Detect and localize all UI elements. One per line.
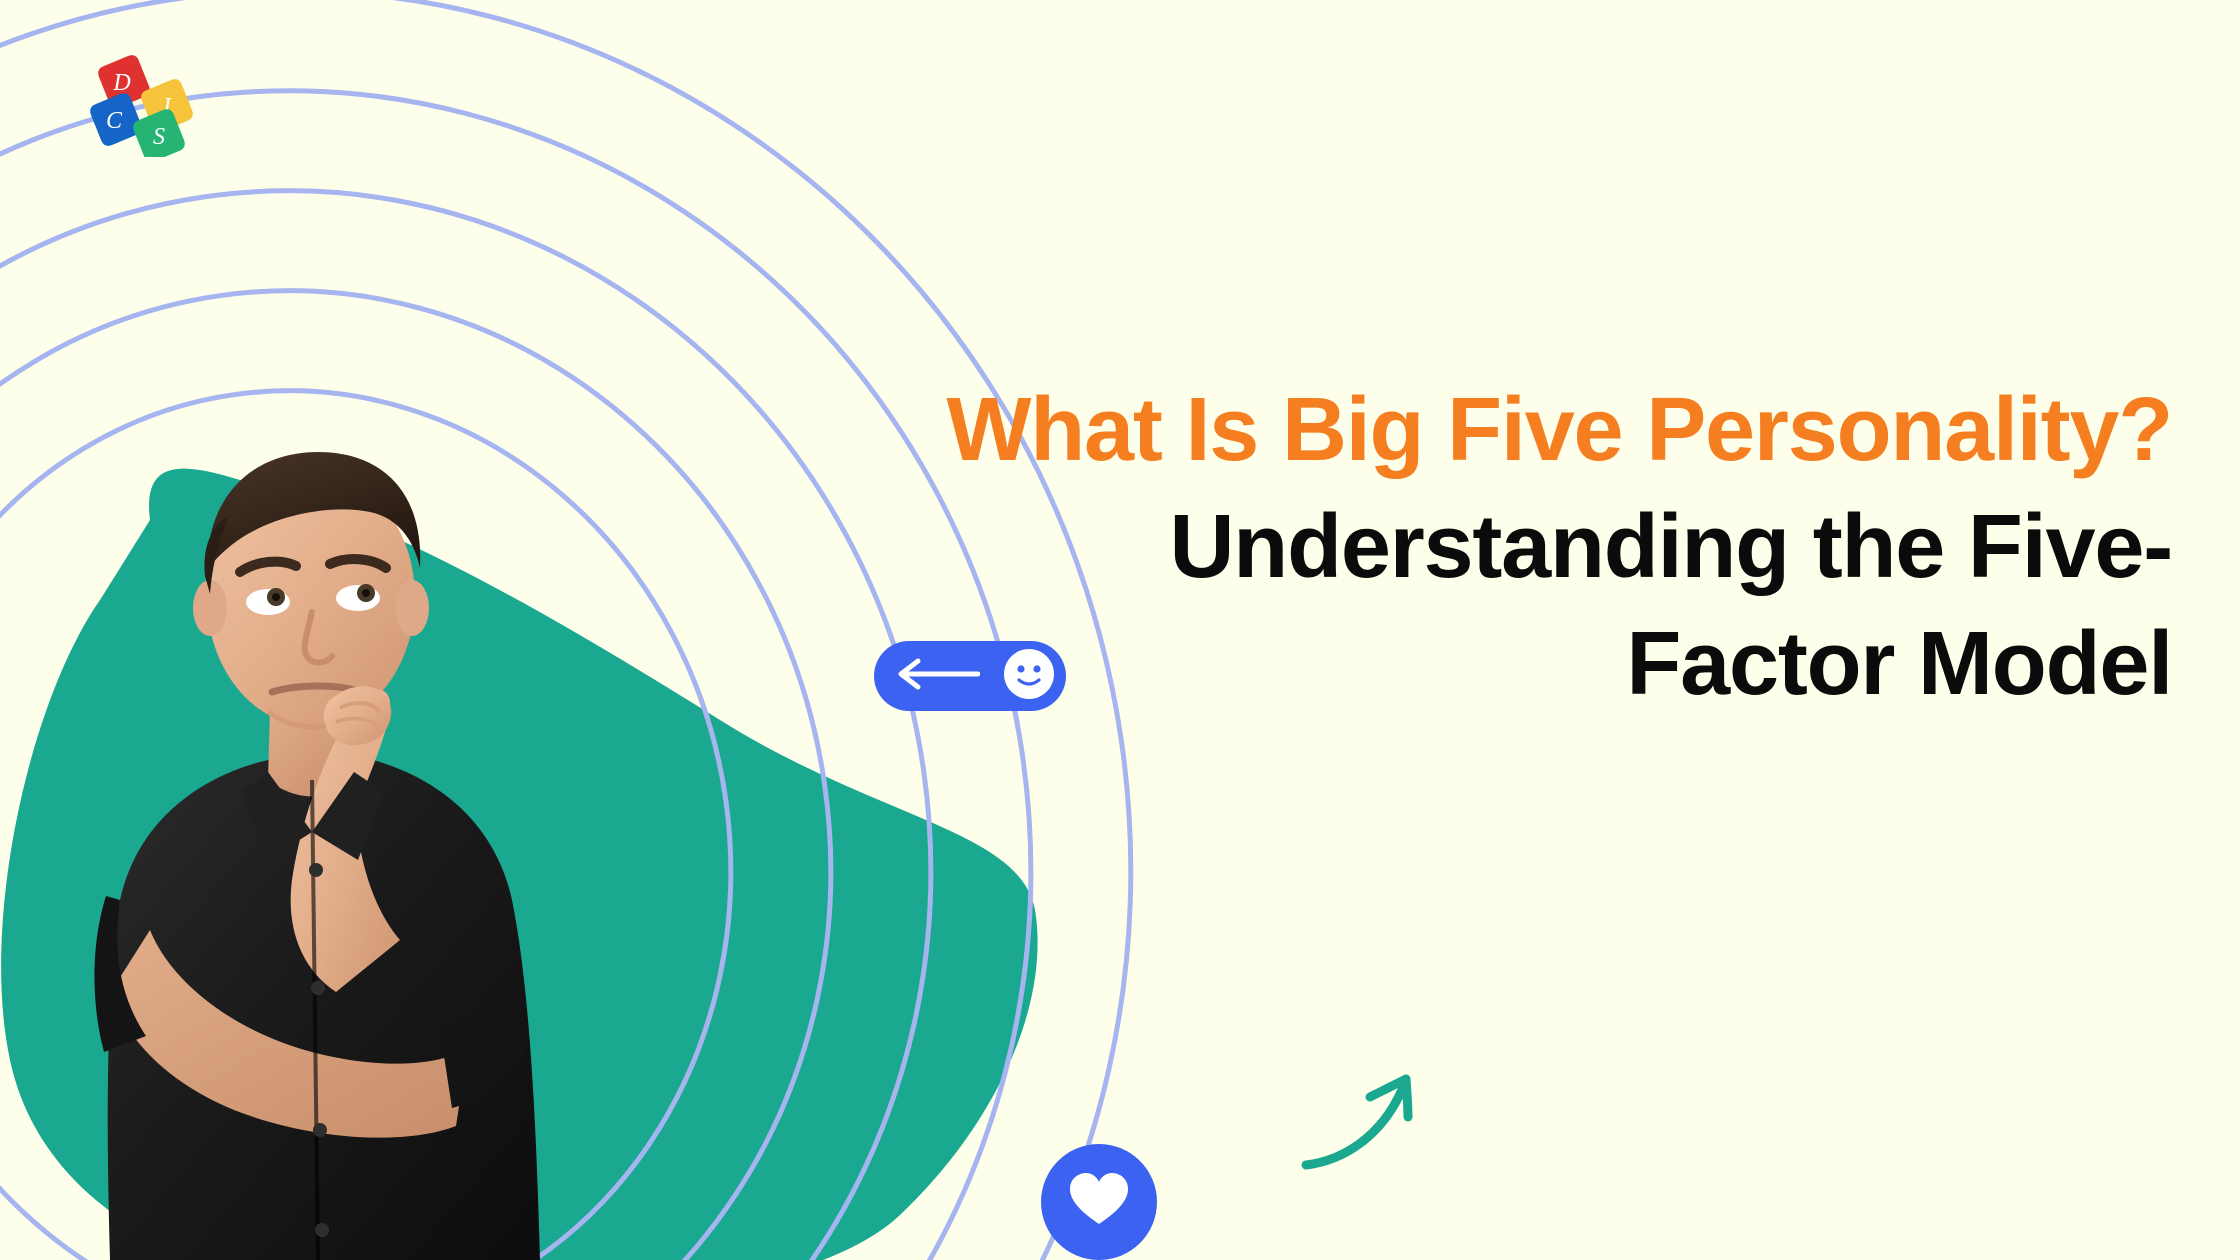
thinking-man-photo <box>0 340 700 1260</box>
head <box>193 452 429 727</box>
hero-banner: D I C S <box>0 0 2240 1260</box>
headline-line-2: Understanding the Five- <box>752 489 2172 606</box>
arrow-left-icon <box>894 657 980 696</box>
smiley-face-icon <box>1003 648 1055 705</box>
svg-text:D: D <box>112 70 130 96</box>
svg-text:C: C <box>106 108 123 134</box>
curved-arrow-up-right-icon <box>1300 1065 1430 1175</box>
svg-text:S: S <box>153 124 165 150</box>
favorite-badge[interactable] <box>1041 1144 1157 1260</box>
disc-logo[interactable]: D I C S <box>86 52 196 157</box>
back-smiley-badge[interactable] <box>874 641 1066 711</box>
heart-icon <box>1068 1172 1130 1233</box>
headline-line-1: What Is Big Five Personality? <box>752 372 2172 489</box>
